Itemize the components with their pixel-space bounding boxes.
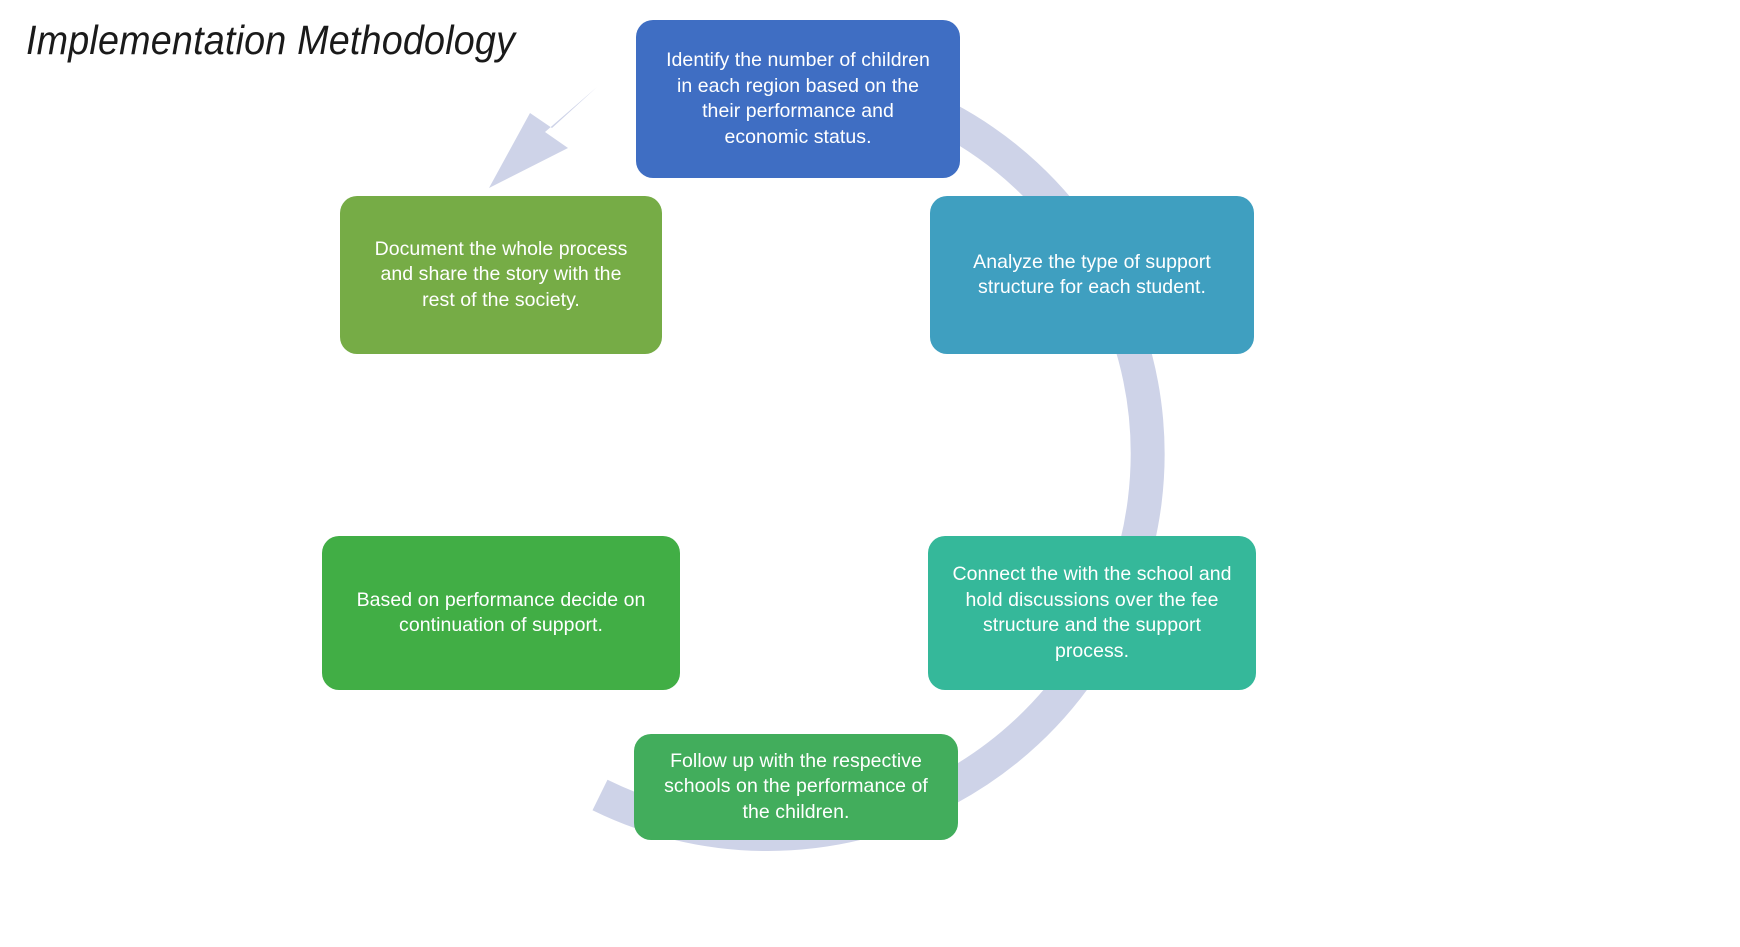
cycle-node-decide-continuation[interactable]: Based on performance decide on continuat… [322,536,680,690]
cycle-node-analyze-support-structure[interactable]: Analyze the type of support structure fo… [930,196,1254,354]
node-line: Analyze the type of support [944,250,1240,276]
cycle-node-label: Document the whole process and share the… [354,237,648,314]
node-line: structure for each student. [944,275,1240,301]
node-line: economic status. [650,125,946,151]
ring-arc [600,74,1148,834]
node-line: Identify the number of children [650,48,946,74]
node-line: Follow up with the respective [648,749,944,775]
node-line: Document the whole process [354,237,648,263]
node-line: Connect the with the school and [942,562,1242,588]
node-line: rest of the society. [354,288,648,314]
node-line: structure and the support [942,613,1242,639]
cycle-node-label: Follow up with the respective schools on… [648,749,944,826]
node-line: hold discussions over the fee [942,588,1242,614]
cycle-node-follow-up-schools[interactable]: Follow up with the respective schools on… [634,734,958,840]
page-title: Implementation Methodology [26,14,515,66]
node-line: continuation of support. [336,613,666,639]
node-line: their performance and [650,99,946,125]
cycle-node-label: Based on performance decide on continuat… [336,588,666,639]
node-line: and share the story with the [354,262,648,288]
cycle-node-identify-children[interactable]: Identify the number of children in each … [636,20,960,178]
node-line: Based on performance decide on [336,588,666,614]
cycle-node-label: Analyze the type of support structure fo… [944,250,1240,301]
cycle-node-label: Connect the with the school and hold dis… [942,562,1242,664]
slide-canvas: Implementation Methodology Identify the … [0,0,1740,947]
cycle-node-document-and-share[interactable]: Document the whole process and share the… [340,196,662,354]
node-line: schools on the performance of [648,774,944,800]
node-line: process. [942,639,1242,665]
node-line: the children. [648,800,944,826]
node-line: in each region based on the [650,74,946,100]
cycle-node-label: Identify the number of children in each … [650,48,946,150]
arrowhead-icon [489,87,597,188]
cycle-node-connect-with-school[interactable]: Connect the with the school and hold dis… [928,536,1256,690]
